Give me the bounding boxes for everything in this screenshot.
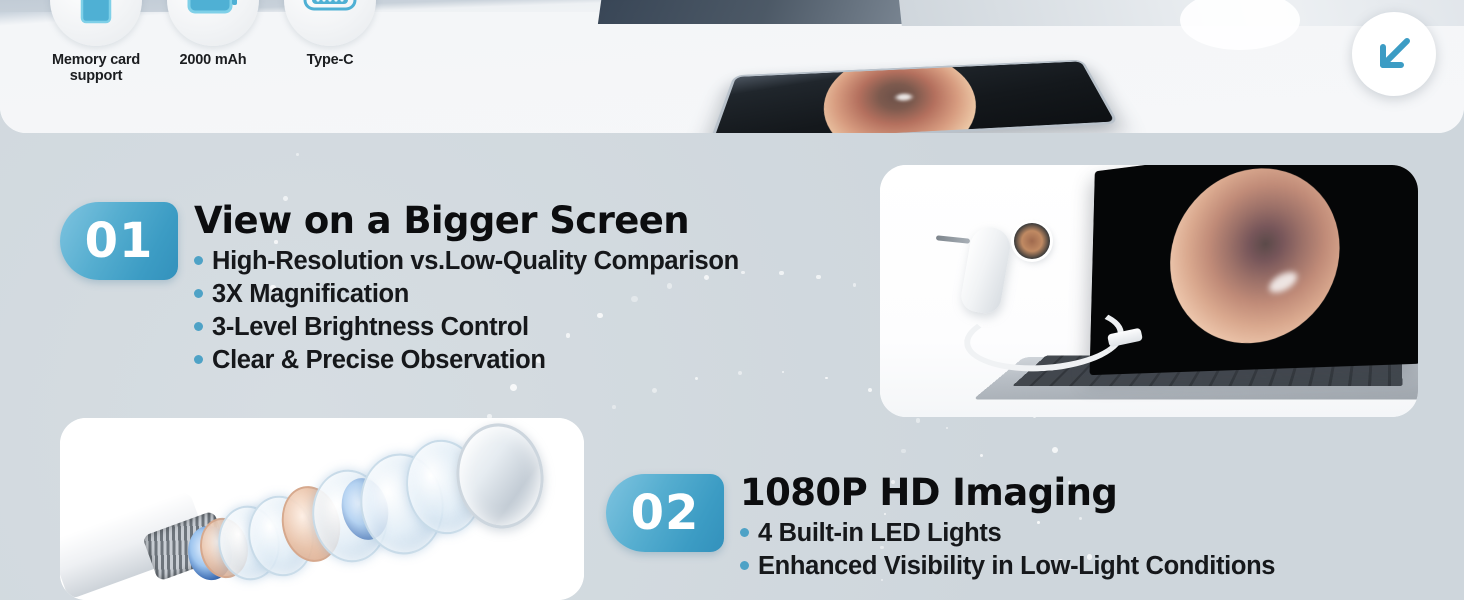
ear-canal-image xyxy=(817,60,990,133)
list-item: Clear & Precise Observation xyxy=(194,344,739,377)
feature-section-02: 02 1080P HD Imaging 4 Built-in LED Light… xyxy=(606,474,1275,583)
lens-scene xyxy=(60,418,584,600)
bullet-dot-icon xyxy=(194,322,203,331)
feature-bullet-list: 4 Built-in LED Lights Enhanced Visibilit… xyxy=(740,517,1275,583)
spec-chip-memory-card: Memory card support xyxy=(50,0,142,84)
ear-canal-image xyxy=(1168,165,1340,347)
feature-section-01: 01 View on a Bigger Screen High-Resoluti… xyxy=(60,202,739,377)
laptop-scene xyxy=(880,165,1418,417)
memory-card-icon xyxy=(50,0,142,46)
otoscope-with-laptop-photo xyxy=(880,165,1418,417)
section-number-badge: 01 xyxy=(60,202,178,280)
bullet-dot-icon xyxy=(194,289,203,298)
list-item: 4 Built-in LED Lights xyxy=(740,517,1275,550)
list-item: 3X Magnification xyxy=(194,278,739,311)
top-banner: Memory card support 2000 mAh xyxy=(0,0,1464,133)
arrow-down-left-icon[interactable] xyxy=(1352,12,1436,96)
spec-chip-type-c: Type-C xyxy=(284,0,376,84)
otoscope-tip xyxy=(936,235,970,244)
spec-chip-battery: 2000 mAh xyxy=(167,0,259,84)
bullet-text: 4 Built-in LED Lights xyxy=(758,517,1001,550)
laptop-screen xyxy=(1090,165,1418,375)
lens-assembly-exploded-photo xyxy=(60,418,584,600)
spec-chip-label: Type-C xyxy=(307,52,354,68)
bullet-text: 3-Level Brightness Control xyxy=(212,311,529,344)
spec-chip-list: Memory card support 2000 mAh xyxy=(50,0,376,84)
spec-chip-label: Memory card support xyxy=(50,52,142,84)
bullet-dot-icon xyxy=(194,256,203,265)
section-title: View on a Bigger Screen xyxy=(194,202,739,240)
list-item: Enhanced Visibility in Low-Light Conditi… xyxy=(740,550,1275,583)
bullet-text: Clear & Precise Observation xyxy=(212,344,546,377)
bullet-dot-icon xyxy=(740,561,749,570)
list-item: 3-Level Brightness Control xyxy=(194,311,739,344)
bullet-text: Enhanced Visibility in Low-Light Conditi… xyxy=(758,550,1275,583)
battery-icon xyxy=(167,0,259,46)
usb-type-c-icon xyxy=(284,0,376,46)
feature-bullet-list: High-Resolution vs.Low-Quality Compariso… xyxy=(194,245,739,377)
section-body: 1080P HD Imaging 4 Built-in LED Lights E… xyxy=(740,474,1275,583)
otoscope-lens-head xyxy=(1014,223,1050,259)
bullet-dot-icon xyxy=(194,355,203,364)
spec-chip-label: 2000 mAh xyxy=(180,52,247,68)
product-feature-page: Memory card support 2000 mAh xyxy=(0,0,1464,600)
bullet-text: 3X Magnification xyxy=(212,278,409,311)
section-number-badge: 02 xyxy=(606,474,724,552)
bullet-dot-icon xyxy=(740,528,749,537)
section-body: View on a Bigger Screen High-Resolution … xyxy=(194,202,739,377)
section-title: 1080P HD Imaging xyxy=(740,474,1275,512)
bullet-text: High-Resolution vs.Low-Quality Compariso… xyxy=(212,245,739,278)
list-item: High-Resolution vs.Low-Quality Compariso… xyxy=(194,245,739,278)
